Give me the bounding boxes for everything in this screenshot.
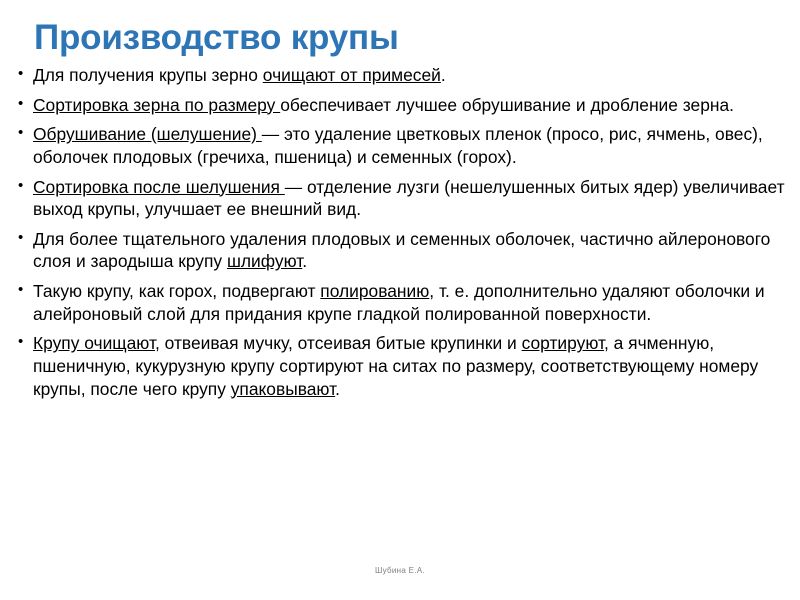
- body-text-run: .: [302, 251, 307, 271]
- emphasized-term: Обрушивание (шелушение): [33, 124, 262, 144]
- emphasized-term: очищают от примесей: [263, 65, 441, 85]
- bullet-polishing: Такую крупу, как горох, подвергают полир…: [14, 280, 786, 325]
- body-text-run: , отвеивая мучку, отсеивая битые крупинк…: [155, 333, 522, 353]
- bullet-grinding: Для более тщательного удаления плодовых …: [14, 228, 786, 273]
- emphasized-term: упаковывают: [231, 379, 335, 399]
- emphasized-term: Сортировка после шелушения: [33, 177, 285, 197]
- body-text-run: .: [335, 379, 340, 399]
- presentation-slide: Производство крупы Для получения крупы з…: [0, 0, 800, 600]
- emphasized-term: сортируют: [522, 333, 604, 353]
- emphasized-term: Крупу очищают: [33, 333, 155, 353]
- slide-footer-author: Шубина Е.А.: [0, 566, 800, 575]
- bullet-sorting-after-hulling: Сортировка после шелушения — отделение л…: [14, 176, 786, 221]
- body-text-run: Для более тщательного удаления плодовых …: [33, 229, 770, 272]
- emphasized-term: Сортировка зерна по размеру: [33, 95, 280, 115]
- bullet-list: Для получения крупы зерно очищают от при…: [14, 64, 786, 400]
- body-text-run: Такую крупу, как горох, подвергают: [33, 281, 320, 301]
- emphasized-term: шлифуют: [227, 251, 302, 271]
- bullet-hulling: Обрушивание (шелушение) — это удаление ц…: [14, 123, 786, 168]
- page-title: Производство крупы: [34, 19, 774, 57]
- body-text-run: .: [441, 65, 446, 85]
- bullet-cleaning: Для получения крупы зерно очищают от при…: [14, 64, 786, 87]
- body-text-run: Для получения крупы зерно: [33, 65, 263, 85]
- bullet-cleaning-packing: Крупу очищают, отвеивая мучку, отсеивая …: [14, 332, 786, 400]
- body-text-run: обеспечивает лучшее обрушивание и дробле…: [280, 95, 734, 115]
- emphasized-term: полированию: [320, 281, 429, 301]
- bullet-sorting-by-size: Сортировка зерна по размеру обеспечивает…: [14, 94, 786, 117]
